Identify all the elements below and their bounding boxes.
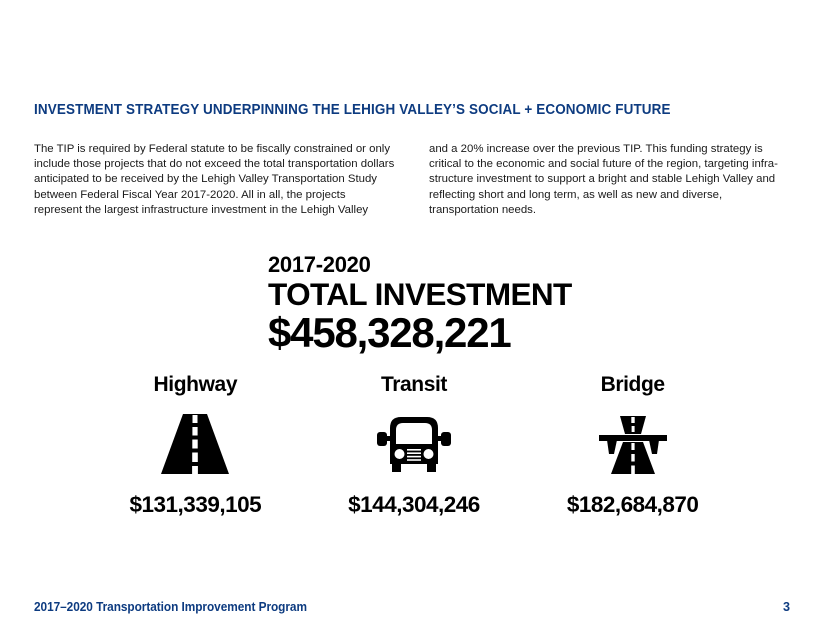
category-bridge-amount: $182,684,870 [523, 492, 742, 518]
intro-paragraph-left: The TIP is required by Federal statute t… [34, 142, 396, 218]
category-transit: Transit [305, 372, 524, 518]
headline-total-amount: $458,328,221 [268, 310, 572, 355]
category-highway-label: Highway [86, 372, 305, 397]
bridge-overpass-icon [523, 406, 742, 476]
category-transit-amount: $144,304,246 [305, 492, 524, 518]
category-bridge-label: Bridge [523, 372, 742, 397]
intro-text-block: The TIP is required by Federal statute t… [34, 142, 791, 218]
category-bridge: Bridge [523, 372, 742, 518]
category-transit-label: Transit [305, 372, 524, 397]
category-highway-amount: $131,339,105 [86, 492, 305, 518]
footer-page-number: 3 [783, 600, 790, 614]
headline-years: 2017-2020 [268, 252, 572, 278]
page-section-heading: INVESTMENT STRATEGY UNDERPINNING THE LEH… [34, 102, 671, 118]
intro-column-right: and a 20% increase over the previous TIP… [429, 142, 791, 218]
investment-category-row: Highway $131,339,105 Transit [86, 372, 742, 518]
document-page: INVESTMENT STRATEGY UNDERPINNING THE LEH… [0, 0, 823, 636]
intro-paragraph-right: and a 20% increase over the previous TIP… [429, 142, 791, 218]
total-investment-headline: 2017-2020 TOTAL INVESTMENT $458,328,221 [268, 252, 572, 355]
footer-document-title: 2017–2020 Transportation Improvement Pro… [34, 600, 307, 614]
transit-bus-icon [305, 406, 524, 476]
headline-title: TOTAL INVESTMENT [268, 277, 572, 312]
highway-road-icon [86, 406, 305, 476]
intro-column-left: The TIP is required by Federal statute t… [34, 142, 396, 218]
category-highway: Highway $131,339,105 [86, 372, 305, 518]
